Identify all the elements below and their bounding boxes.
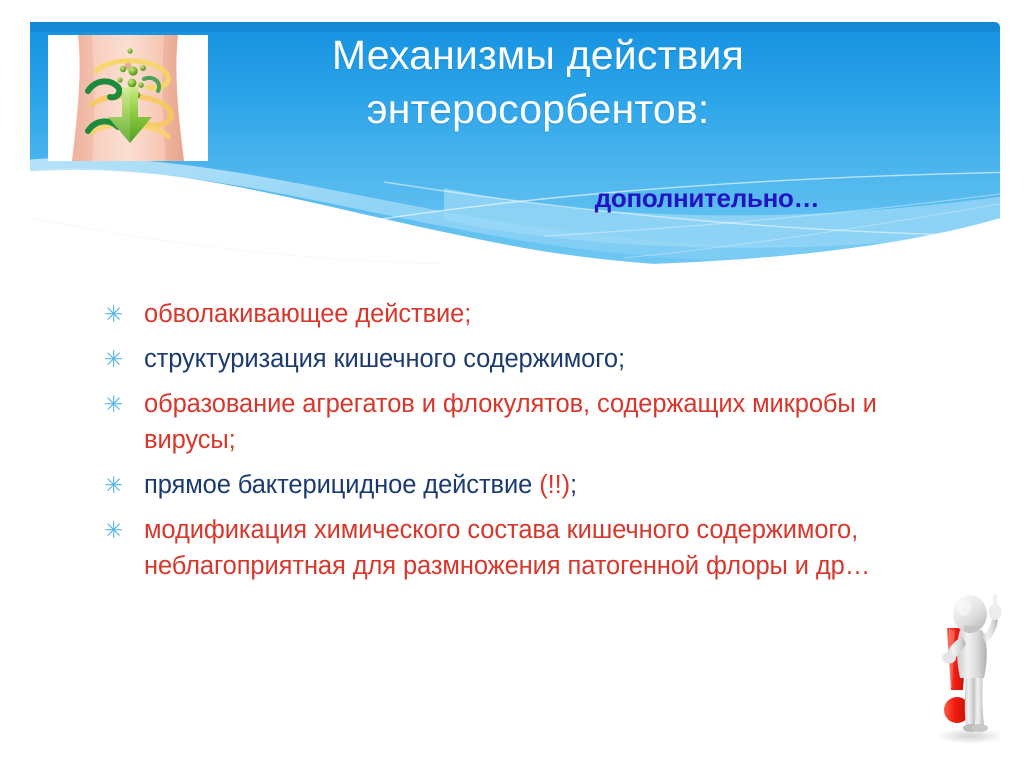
slide: Механизмы действия энтеросорбентов: допо…	[0, 0, 1024, 767]
list-item: ✳ структуризация кишечного содержимого;	[100, 341, 930, 377]
asterisk-bullet-icon: ✳	[100, 512, 144, 548]
asterisk-bullet-icon: ✳	[100, 296, 144, 332]
list-item: ✳ прямое бактерицидное действие (!!);	[100, 467, 930, 503]
list-item-text-prefix: прямое бактерицидное действие	[144, 471, 539, 499]
list-item-text: модификация химического состава кишечног…	[144, 512, 930, 584]
list-item-text: структуризация кишечного содержимого;	[144, 341, 930, 377]
list-item-text: прямое бактерицидное действие (!!);	[144, 467, 930, 503]
list-item-text: обволакивающее действие;	[144, 296, 930, 332]
exclamation-figure-image	[916, 586, 1016, 746]
subtitle-additional: дополнительно…	[470, 183, 944, 214]
list-item-text: образование агрегатов и флокулятов, соде…	[144, 386, 930, 458]
list-item-emphasis: (!!)	[539, 471, 570, 499]
abdomen-illustration-image	[48, 35, 208, 161]
bullet-list: ✳ обволакивающее действие; ✳ структуриза…	[100, 296, 930, 593]
list-item: ✳ модификация химического состава кишечн…	[100, 512, 930, 584]
asterisk-bullet-icon: ✳	[100, 467, 144, 503]
list-item: ✳ образование агрегатов и флокулятов, со…	[100, 386, 930, 458]
asterisk-bullet-icon: ✳	[100, 386, 144, 422]
list-item-text-suffix: ;	[570, 471, 577, 499]
list-item: ✳ обволакивающее действие;	[100, 296, 930, 332]
asterisk-bullet-icon: ✳	[100, 341, 144, 377]
